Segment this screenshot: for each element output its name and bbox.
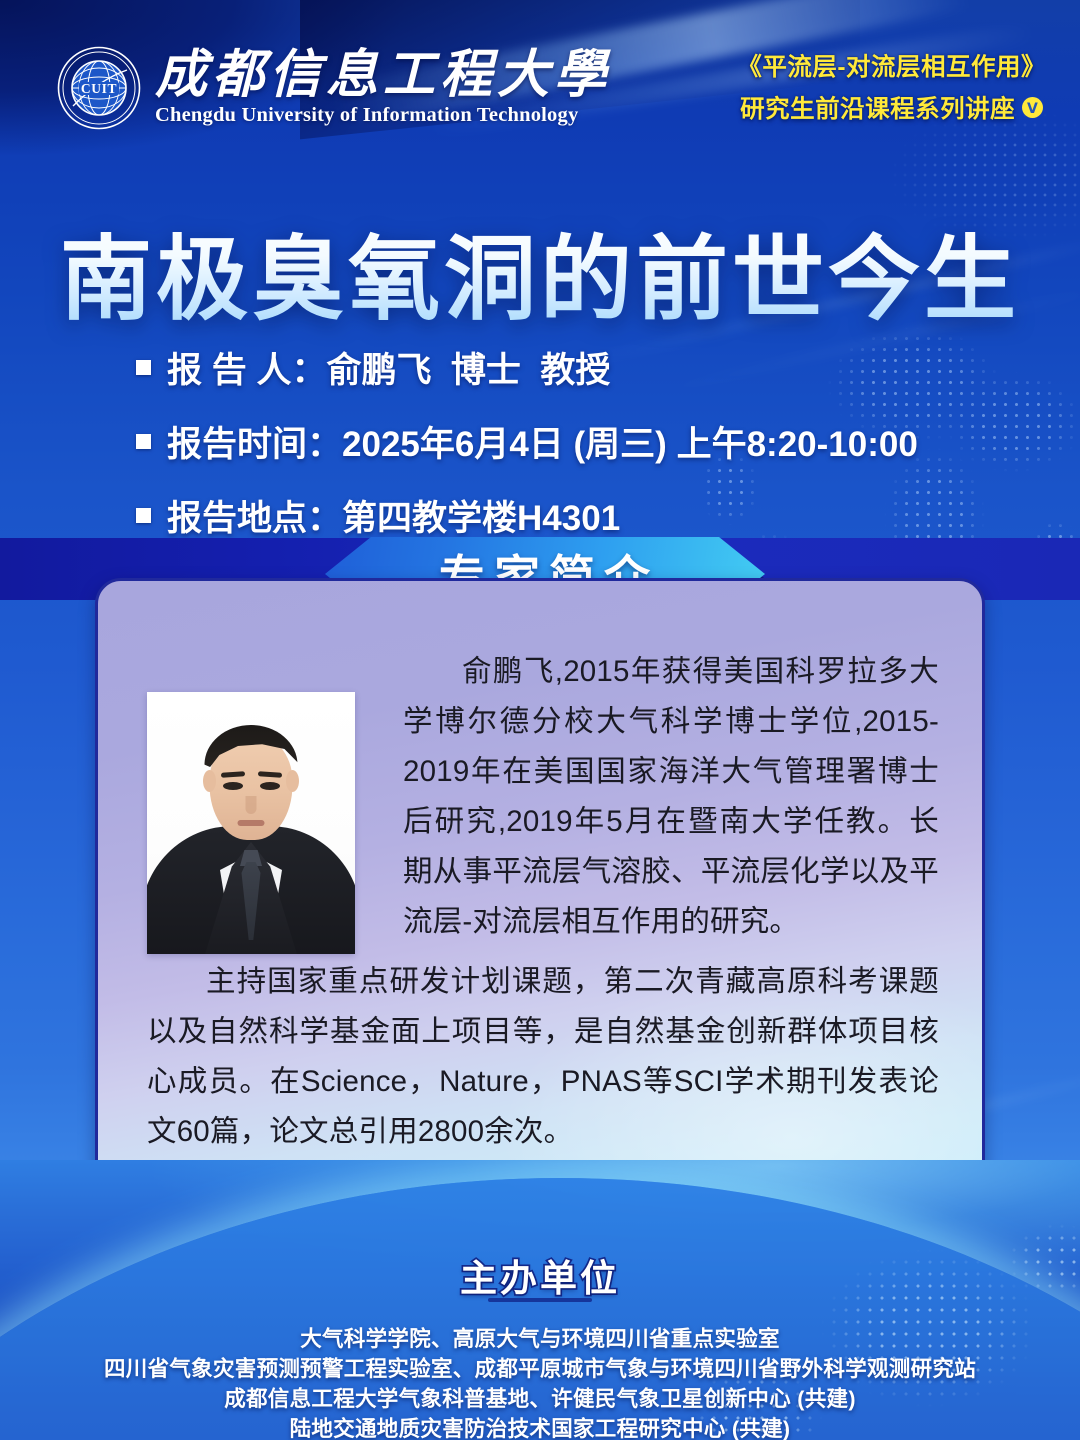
svg-text:CUIT: CUIT bbox=[81, 81, 117, 96]
series-title-line2-wrap: 研究生前沿课程系列讲座 Ⅴ bbox=[737, 90, 1046, 125]
host-line: 四川省气象灾害预测预警工程实验室、成都平原城市气象与环境四川省野外科学观测研究站 bbox=[0, 1354, 1080, 1384]
series-title-line1: 《平流层-对流层相互作用》 bbox=[737, 48, 1046, 83]
square-bullet-icon bbox=[136, 360, 151, 375]
university-name-block: 成都信息工程大學 Chengdu University of Informati… bbox=[155, 49, 611, 127]
host-line: 大气科学学院、高原大气与环境四川省重点实验室 bbox=[0, 1324, 1080, 1354]
university-name-en: Chengdu University of Information Techno… bbox=[155, 104, 611, 127]
info-value-location: 第四教学楼H4301 bbox=[342, 490, 620, 541]
poster-header: CUIT 成都信息工程大學 Chengdu University of Info… bbox=[0, 0, 1080, 150]
host-title-underline bbox=[488, 1298, 592, 1302]
expert-bio-card: 俞鹏飞,2015年获得美国科罗拉多大学博尔德分校大气科学博士学位,2015-20… bbox=[95, 578, 985, 1210]
info-value-time: 2025年6月4日 (周三) 上午8:20-10:00 bbox=[342, 416, 918, 467]
square-bullet-icon bbox=[136, 508, 151, 523]
info-label-time: 报告时间： bbox=[167, 416, 342, 467]
bio-paragraph-2: 主持国家重点研发计划课题，第二次青藏高原科考课题以及自然科学基金面上项目等，是自… bbox=[147, 957, 939, 1157]
info-row-time: 报告时间： 2025年6月4日 (周三) 上午8:20-10:00 bbox=[136, 416, 996, 467]
poster-root: CUIT 成都信息工程大學 Chengdu University of Info… bbox=[0, 0, 1080, 1440]
university-name-cn: 成都信息工程大學 bbox=[155, 49, 611, 102]
bio-paragraph-1: 俞鹏飞,2015年获得美国科罗拉多大学博尔德分校大气科学博士学位,2015-20… bbox=[403, 647, 939, 947]
info-label-speaker: 报 告 人： bbox=[167, 342, 326, 393]
cuit-globe-emblem-icon: CUIT bbox=[57, 46, 141, 130]
series-number-badge-icon: Ⅴ bbox=[1022, 97, 1043, 118]
info-label-location: 报告地点： bbox=[167, 490, 342, 541]
info-row-speaker: 报 告 人： 俞鹏飞 博士 教授 bbox=[136, 342, 996, 393]
host-line: 陆地交通地质灾害防治技术国家工程研究中心 (共建) bbox=[0, 1414, 1080, 1440]
info-row-location: 报告地点： 第四教学楼H4301 bbox=[136, 490, 996, 541]
square-bullet-icon bbox=[136, 434, 151, 449]
bio-text-block: 俞鹏飞,2015年获得美国科罗拉多大学博尔德分校大气科学博士学位,2015-20… bbox=[147, 647, 939, 1157]
poster-footer: 主办单位 大气科学学院、高原大气与环境四川省重点实验室 四川省气象灾害预测预警工… bbox=[0, 1160, 1080, 1440]
lecture-info-list: 报 告 人： 俞鹏飞 博士 教授 报告时间： 2025年6月4日 (周三) 上午… bbox=[136, 342, 996, 564]
university-branding: CUIT 成都信息工程大學 Chengdu University of Info… bbox=[57, 46, 611, 130]
lecture-series-label: 《平流层-对流层相互作用》 研究生前沿课程系列讲座 Ⅴ bbox=[737, 48, 1046, 125]
info-value-speaker: 俞鹏飞 博士 教授 bbox=[326, 342, 610, 393]
host-organization-list: 大气科学学院、高原大气与环境四川省重点实验室 四川省气象灾害预测预警工程实验室、… bbox=[0, 1324, 1080, 1440]
host-line: 成都信息工程大学气象科普基地、许健民气象卫星创新中心 (共建) bbox=[0, 1384, 1080, 1414]
series-title-line2: 研究生前沿课程系列讲座 bbox=[740, 90, 1015, 125]
page-title: 南极臭氧洞的前世今生 bbox=[0, 205, 1080, 338]
host-section-title: 主办单位 bbox=[0, 1248, 1080, 1302]
